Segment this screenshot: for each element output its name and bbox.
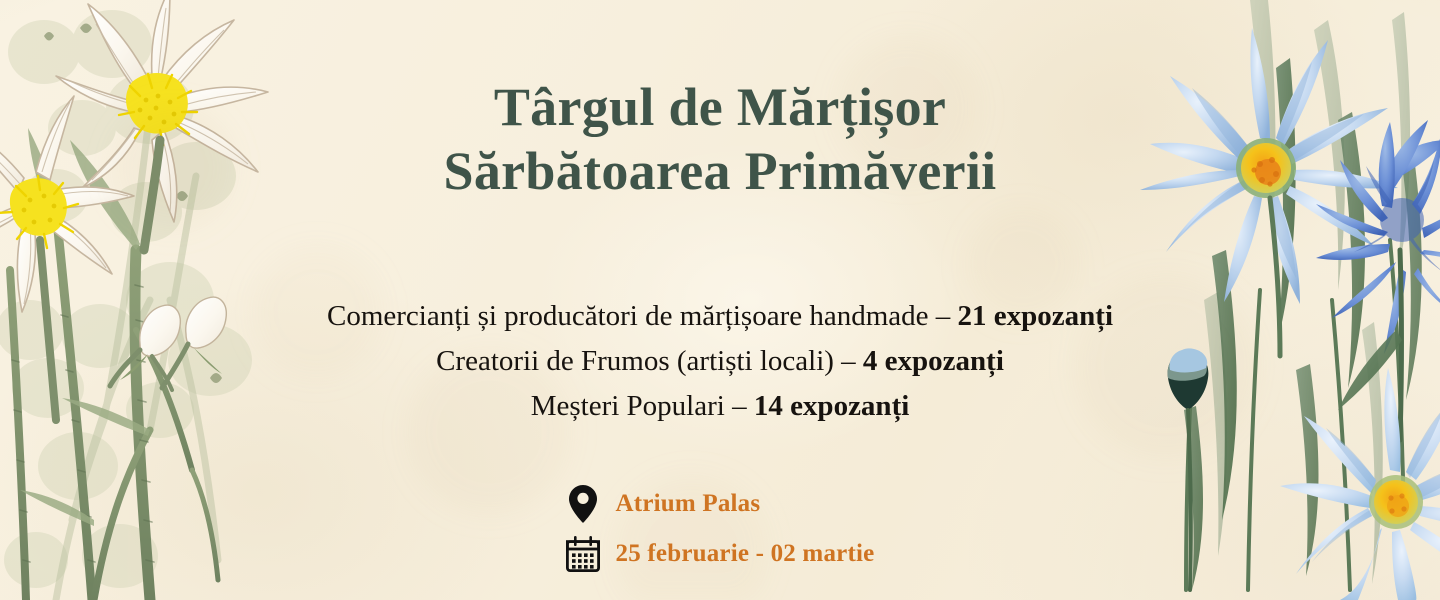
lineup-separator: – [929, 300, 958, 332]
lineup-category: Comercianți și producători de mărțișoare… [327, 300, 929, 332]
event-meta: Atrium Palas [566, 485, 875, 572]
dates-text: 25 februarie - 02 martie [616, 540, 875, 568]
lineup-category: Meșteri Populari [531, 390, 725, 422]
dates-row: 25 februarie - 02 martie [566, 536, 875, 572]
title-line-2: Sărbătoarea Primăverii [444, 140, 997, 204]
exhibitor-lineup: Comercianți și producători de mărțișoare… [327, 294, 1113, 430]
poster-content: Târgul de Mărțișor Sărbătoarea Primăveri… [0, 0, 1440, 600]
lineup-category: Creatorii de Frumos (artiști locali) [436, 345, 834, 377]
location-text: Atrium Palas [616, 490, 761, 518]
lineup-separator: – [725, 390, 754, 422]
lineup-count: 21 expozanți [958, 300, 1113, 332]
title-line-1: Târgul de Mărțișor [444, 76, 997, 140]
map-pin-icon [566, 485, 600, 523]
lineup-row: Meșteri Populari – 14 expozanți [327, 384, 1113, 429]
lineup-row: Creatorii de Frumos (artiști locali) – 4… [327, 339, 1113, 384]
lineup-count: 14 expozanți [754, 390, 909, 422]
page-title: Târgul de Mărțișor Sărbătoarea Primăveri… [444, 76, 997, 203]
lineup-count: 4 expozanți [863, 345, 1004, 377]
lineup-row: Comercianți și producători de mărțișoare… [327, 294, 1113, 339]
poster-canvas: Târgul de Mărțișor Sărbătoarea Primăveri… [0, 0, 1440, 600]
location-row: Atrium Palas [566, 485, 875, 523]
lineup-separator: – [834, 345, 863, 377]
calendar-icon [566, 536, 600, 572]
